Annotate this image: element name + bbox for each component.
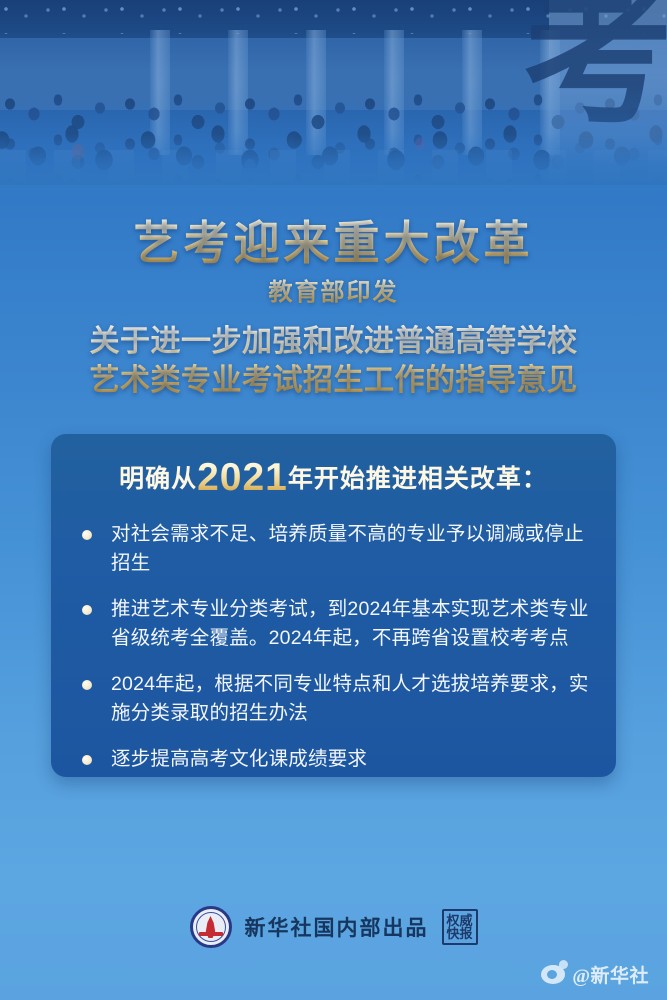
bullet-dot-icon xyxy=(82,605,92,615)
weibo-watermark: @新华社 xyxy=(541,961,649,988)
list-item-text: 推进艺术专业分类考试，到2024年基本实现艺术类专业省级统考全覆盖。2024年起… xyxy=(111,598,589,649)
card-heading-year: 2021 xyxy=(197,456,288,499)
bullet-dot-icon xyxy=(82,680,92,690)
list-item-text: 2024年起，根据不同专业特点和人才选拔培养要求，实施分类录取的招生办法 xyxy=(111,673,589,724)
list-item: 2024年起，根据不同专业特点和人才选拔培养要求，实施分类录取的招生办法 xyxy=(77,670,590,728)
list-item-text: 对社会需求不足、培养质量不高的专业予以调减或停止招生 xyxy=(111,523,584,574)
reform-highlights-card: 明确从2021年开始推进相关改革： 对社会需求不足、培养质量不高的专业予以调减或… xyxy=(51,434,616,777)
list-item: 推进艺术专业分类考试，到2024年基本实现艺术类专业省级统考全覆盖。2024年起… xyxy=(77,595,590,653)
authority-stamp-badge: 权威 快报 xyxy=(442,909,478,945)
card-heading: 明确从2021年开始推进相关改革： xyxy=(77,456,590,500)
document-title: 关于进一步加强和改进普通高等学校 艺术类专业考试招生工作的指导意见 xyxy=(0,322,667,400)
document-title-line-1: 关于进一步加强和改进普通高等学校 xyxy=(0,322,667,361)
card-heading-suffix: 年开始推进相关改革： xyxy=(288,466,548,493)
poster-canvas: 考 艺考迎来重大改革 教育部印发 关于进一步加强和改进普通高等学校 艺术类专业考… xyxy=(0,0,667,1000)
logo-base-bar xyxy=(199,932,223,936)
page-title: 艺考迎来重大改革 xyxy=(0,207,667,273)
hero-photo-blue-tint xyxy=(0,0,667,185)
footer-credit-text: 新华社国内部出品 xyxy=(245,912,429,942)
reform-bullet-list: 对社会需求不足、培养质量不高的专业予以调减或停止招生 推进艺术专业分类考试，到2… xyxy=(77,520,590,774)
list-item-text: 逐步提高高考文化课成绩要求 xyxy=(111,748,367,770)
kicker-text: 教育部印发 xyxy=(0,272,667,307)
list-item: 逐步提高高考文化课成绩要求 xyxy=(77,745,590,774)
list-item: 对社会需求不足、培养质量不高的专业予以调减或停止招生 xyxy=(77,520,590,578)
card-heading-prefix: 明确从 xyxy=(119,466,197,493)
bullet-dot-icon xyxy=(82,755,92,765)
hero-photo: 考 xyxy=(0,0,667,185)
document-title-line-2: 艺术类专业考试招生工作的指导意见 xyxy=(0,361,667,400)
weibo-handle: @新华社 xyxy=(572,961,649,988)
xinhua-agency-logo-icon xyxy=(190,906,232,948)
bullet-dot-icon xyxy=(82,530,92,540)
stamp-line-2: 快报 xyxy=(446,927,472,940)
footer: 新华社国内部出品 权威 快报 xyxy=(0,906,667,948)
weibo-icon xyxy=(541,965,565,984)
